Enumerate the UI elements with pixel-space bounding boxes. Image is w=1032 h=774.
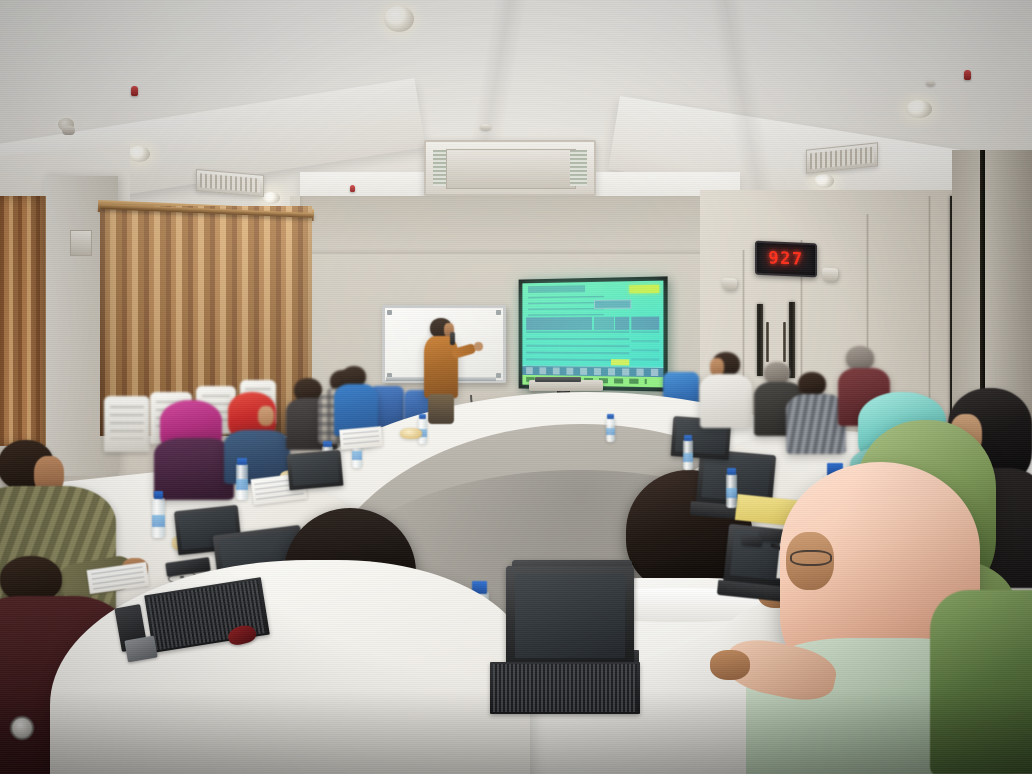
eyeglasses-peach <box>790 550 832 566</box>
downlight-icon-3 <box>262 192 280 204</box>
participant-torso <box>786 394 846 454</box>
projection-screen-surface <box>522 281 663 388</box>
bottle-label <box>152 515 165 527</box>
sprinkler-head-icon-right <box>964 70 971 80</box>
laptop-left-2[interactable] <box>287 450 344 491</box>
projected-table-header-3 <box>615 317 629 330</box>
notebook-left-2 <box>339 426 383 450</box>
door-handle-right[interactable] <box>783 322 786 362</box>
microphone-icon <box>450 332 455 345</box>
participant-face <box>258 406 274 426</box>
participant-torso <box>930 590 1032 774</box>
bottle-cap <box>237 458 246 465</box>
ceiling-speaker-icon-1 <box>62 126 75 135</box>
participant-torso <box>700 374 752 428</box>
projected-highlight-cell <box>611 359 630 366</box>
bottle-label <box>606 428 615 435</box>
sprinkler-head-icon-left <box>131 86 138 96</box>
projected-button <box>594 299 632 309</box>
projected-form-fields <box>528 295 604 316</box>
downlight-icon-6 <box>814 174 834 188</box>
participant-hand <box>710 650 750 680</box>
bottle-cap <box>419 414 426 419</box>
projected-table-header-1 <box>526 317 592 330</box>
laptop-foreground-right[interactable] <box>506 566 634 670</box>
sprinkler-head-icon-mid <box>350 185 355 192</box>
water-bottle-9 <box>683 440 693 470</box>
participant-head <box>764 362 790 384</box>
clock-digits: 927 <box>768 248 803 270</box>
vent-slats <box>810 147 874 170</box>
whiteboard-corner-tl <box>387 310 392 315</box>
chair-backrest-slots <box>110 406 143 438</box>
phone-right-2[interactable] <box>742 535 763 547</box>
whiteboard-corner-tr <box>496 310 501 315</box>
training-room-photo: 927 <box>0 0 1032 774</box>
bottle-cap <box>727 468 735 475</box>
wall-back-valance <box>300 196 720 254</box>
ac-grill-right <box>570 150 587 185</box>
door-gap-left[interactable] <box>757 304 763 376</box>
ac-face-panel <box>446 149 576 188</box>
water-bottle-8 <box>726 474 737 508</box>
curtain-far-left <box>0 196 46 446</box>
bottle-label <box>236 479 248 490</box>
projection-screen <box>519 276 668 391</box>
projected-table-header-2 <box>594 317 614 330</box>
av-stand-laptop <box>535 377 581 382</box>
bottle-label <box>352 451 362 460</box>
door-handle-left[interactable] <box>766 322 769 362</box>
projected-badge <box>630 285 659 294</box>
wall-junction-box <box>70 230 92 256</box>
downlight-icon-5 <box>906 100 932 118</box>
participant-head <box>798 372 826 396</box>
presenter-legs <box>428 394 454 424</box>
wall-led-clock: 927 <box>755 241 817 278</box>
bottle-cap <box>154 491 164 499</box>
smoke-detector-icon-3 <box>926 80 935 86</box>
presenter-hand <box>474 342 483 351</box>
projected-title-bar <box>528 285 586 293</box>
av-stand-top <box>529 380 603 391</box>
smoke-detector-icon-1 <box>480 124 491 130</box>
bottle-label <box>726 488 737 498</box>
downlight-icon-1 <box>384 6 414 32</box>
wall-speaker-icon-2 <box>822 268 838 282</box>
laptop-screen <box>515 574 625 657</box>
whiteboard-corner-br <box>496 373 501 378</box>
vent-slats <box>200 173 260 192</box>
participant-torso <box>154 438 234 500</box>
bottle-cap <box>323 441 331 447</box>
wall-speaker-icon-1 <box>722 278 737 291</box>
bottle-label <box>683 453 693 462</box>
projected-table-header-4 <box>631 317 659 330</box>
chair-white-1[interactable] <box>104 396 150 452</box>
bottle-cap <box>607 414 614 419</box>
laptop-screen <box>291 453 340 486</box>
water-bottle-11 <box>606 418 615 442</box>
projected-side-column <box>631 331 659 368</box>
water-bottle-1 <box>152 498 165 538</box>
ac-cassette-unit <box>424 140 596 196</box>
laptop-keyboard-foreground[interactable] <box>490 662 640 714</box>
presenter-torso <box>424 336 458 398</box>
downlight-icon-2 <box>128 146 150 162</box>
snack-plate-3 <box>400 428 422 439</box>
participant-head <box>846 346 874 370</box>
water-bottle-2 <box>236 464 248 500</box>
door-gap-right[interactable] <box>789 302 795 378</box>
bottle-cap <box>684 435 692 441</box>
partition-seam-4 <box>928 196 931 431</box>
wristwatch-icon <box>10 716 34 740</box>
